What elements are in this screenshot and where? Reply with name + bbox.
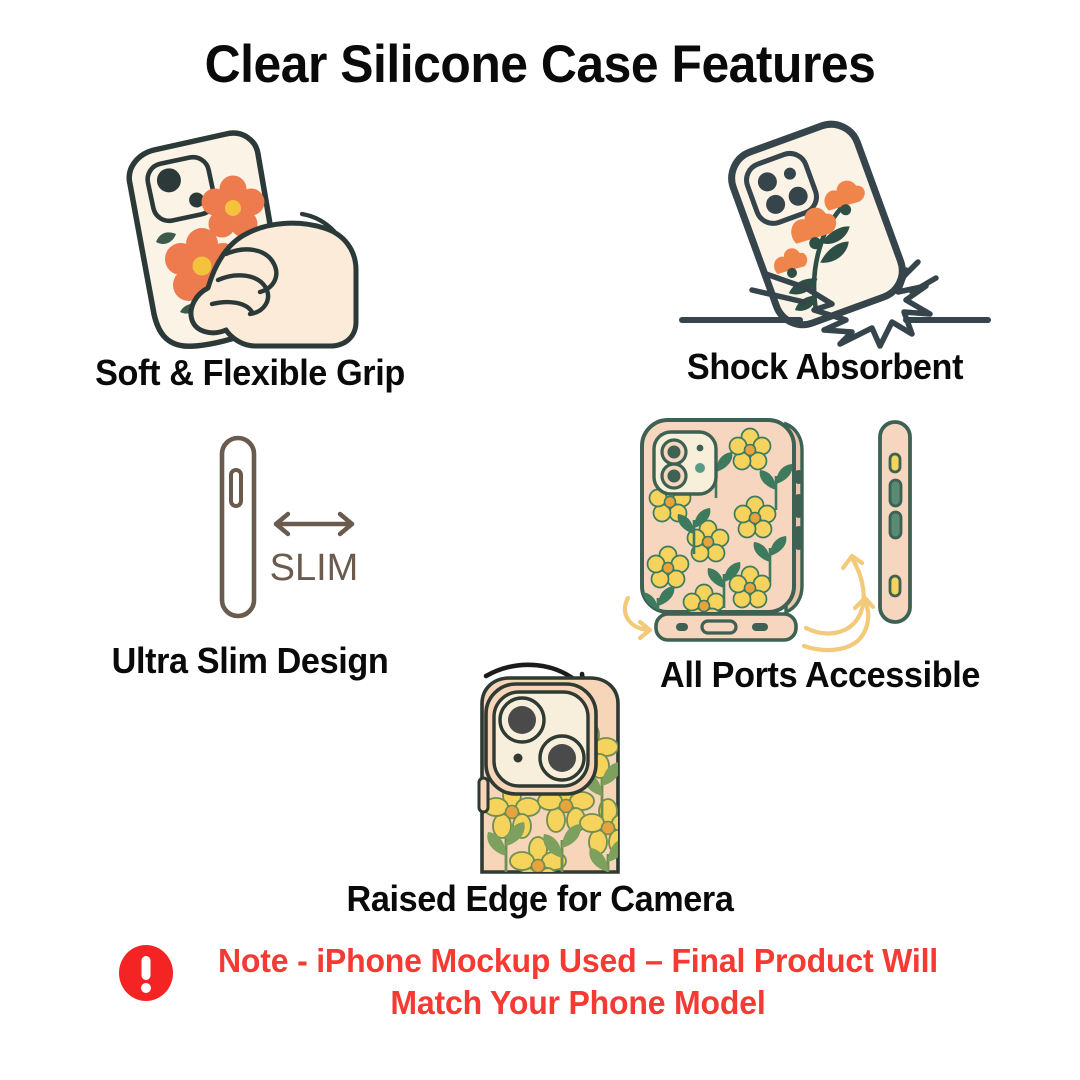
speaker-grille-right: [752, 623, 768, 631]
hand-holding-flexing-case-illustration: [30, 118, 470, 346]
side-button-cutouts: [795, 470, 802, 550]
mute-switch-cutout: [890, 454, 900, 472]
side-edge-profile: [880, 422, 910, 622]
side-button: [479, 778, 488, 812]
phone-side-profile: [222, 438, 254, 616]
feature-caption: Shock Absorbent: [611, 346, 1039, 388]
feature-soft-flexible-grip: Soft & Flexible Grip: [30, 118, 470, 394]
camera-module: [654, 432, 716, 494]
raised-camera-module: [486, 684, 596, 794]
infographic-page: Clear Silicone Case Features: [0, 0, 1080, 1080]
note-line-1: Note - iPhone Mockup Used – Final Produc…: [218, 942, 938, 979]
feature-shock-absorbent: Shock Absorbent: [600, 112, 1050, 388]
power-button-cutout: [890, 576, 900, 596]
feature-ultra-slim-design: SLIM Ultra Slim Design: [30, 420, 470, 682]
feature-caption: Soft & Flexible Grip: [41, 352, 459, 394]
volume-button: [231, 470, 241, 506]
exclamation-circle-icon: [117, 944, 175, 1002]
phone-case-impact-burst-illustration: [600, 112, 1050, 342]
note-banner: Note - iPhone Mockup Used – Final Produc…: [0, 940, 1080, 1024]
bottom-edge-ports: [656, 614, 796, 640]
volume-down-cutout: [890, 512, 901, 538]
phone-back-floral-case: [642, 420, 802, 632]
charging-port: [702, 621, 736, 633]
note-line-2: Match Your Phone Model: [390, 984, 765, 1021]
page-title: Clear Silicone Case Features: [32, 34, 1047, 95]
slim-label: SLIM: [270, 547, 359, 589]
flash-dot: [514, 754, 523, 763]
phone-camera-raised-bezel-illustration: [290, 660, 790, 872]
note-text: Note - iPhone Mockup Used – Final Produc…: [205, 940, 952, 1024]
tilted-phone-case: [724, 116, 910, 332]
phone-side-profile-thickness-illustration: SLIM: [30, 420, 470, 630]
phone-case-ports-cutouts-illustration: [590, 410, 1050, 650]
thickness-arrow: [276, 514, 352, 534]
feature-raised-edge-for-camera: Raised Edge for Camera: [290, 660, 790, 920]
speaker-grille-left: [676, 623, 688, 631]
feature-all-ports-accessible: All Ports Accessible: [590, 410, 1050, 696]
volume-up-cutout: [890, 480, 901, 506]
feature-caption: Raised Edge for Camera: [303, 878, 778, 920]
camera-module: [145, 154, 218, 224]
